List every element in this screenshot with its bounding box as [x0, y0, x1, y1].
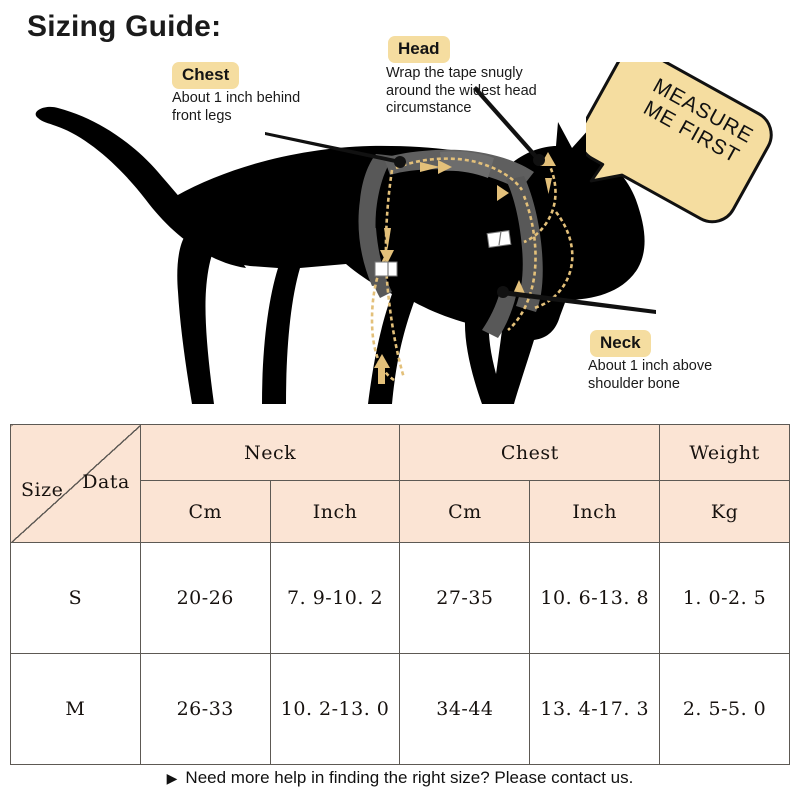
- cell-neck-inch-m: 10. 2-13. 0: [270, 654, 400, 765]
- corner-label-data: Data: [82, 471, 130, 493]
- measure-me-first-bubble: MEASURE ME FIRST: [586, 62, 786, 232]
- callout-badge-neck: Neck: [590, 330, 651, 357]
- cell-size-s: S: [11, 543, 141, 654]
- callout-badge-chest: Chest: [172, 62, 239, 89]
- unit-header-chest-cm: Cm: [400, 481, 530, 543]
- cell-weight-kg-m: 2. 5-5. 0: [660, 654, 790, 765]
- callout-text-chest: About 1 inch behind front legs: [172, 90, 300, 125]
- triangle-right-icon: ▶: [167, 770, 178, 787]
- corner-label: Size Data: [11, 473, 140, 495]
- sizing-table: Size Data Neck Chest Weight Cm Inch Cm I…: [10, 424, 790, 765]
- footer-text: Need more help in finding the right size…: [185, 768, 633, 787]
- cell-chest-inch-s: 10. 6-13. 8: [530, 543, 660, 654]
- group-header-weight: Weight: [660, 425, 790, 481]
- table-header-row-groups: Size Data Neck Chest Weight: [11, 425, 790, 481]
- unit-header-chest-inch: Inch: [530, 481, 660, 543]
- callout-text-neck: About 1 inch above shoulder bone: [588, 358, 712, 393]
- unit-header-neck-cm: Cm: [140, 481, 270, 543]
- corner-label-size: Size: [21, 479, 63, 501]
- cat-silhouette-icon: [36, 107, 645, 404]
- table-row: M 26-33 10. 2-13. 0 34-44 13. 4-17. 3 2.…: [11, 654, 790, 765]
- cell-chest-cm-m: 34-44: [400, 654, 530, 765]
- cell-neck-cm-m: 26-33: [140, 654, 270, 765]
- cell-neck-cm-s: 20-26: [140, 543, 270, 654]
- cell-size-m: M: [11, 654, 141, 765]
- footer-contact-note: ▶Need more help in finding the right siz…: [0, 768, 800, 788]
- cell-neck-inch-s: 7. 9-10. 2: [270, 543, 400, 654]
- table-header: Size Data Neck Chest Weight Cm Inch Cm I…: [11, 425, 790, 543]
- cell-chest-inch-m: 13. 4-17. 3: [530, 654, 660, 765]
- sizing-guide-page: Sizing Guide:: [0, 0, 800, 800]
- cell-weight-kg-s: 1. 0-2. 5: [660, 543, 790, 654]
- callout-badge-head: Head: [388, 36, 450, 63]
- table-row: S 20-26 7. 9-10. 2 27-35 10. 6-13. 8 1. …: [11, 543, 790, 654]
- unit-header-weight-kg: Kg: [660, 481, 790, 543]
- cell-chest-cm-s: 27-35: [400, 543, 530, 654]
- group-header-chest: Chest: [400, 425, 660, 481]
- callout-text-head: Wrap the tape snugly around the widest h…: [386, 65, 537, 118]
- corner-size-data-cell: Size Data: [11, 425, 141, 543]
- group-header-neck: Neck: [140, 425, 400, 481]
- unit-header-neck-inch: Inch: [270, 481, 400, 543]
- table-body: S 20-26 7. 9-10. 2 27-35 10. 6-13. 8 1. …: [11, 543, 790, 765]
